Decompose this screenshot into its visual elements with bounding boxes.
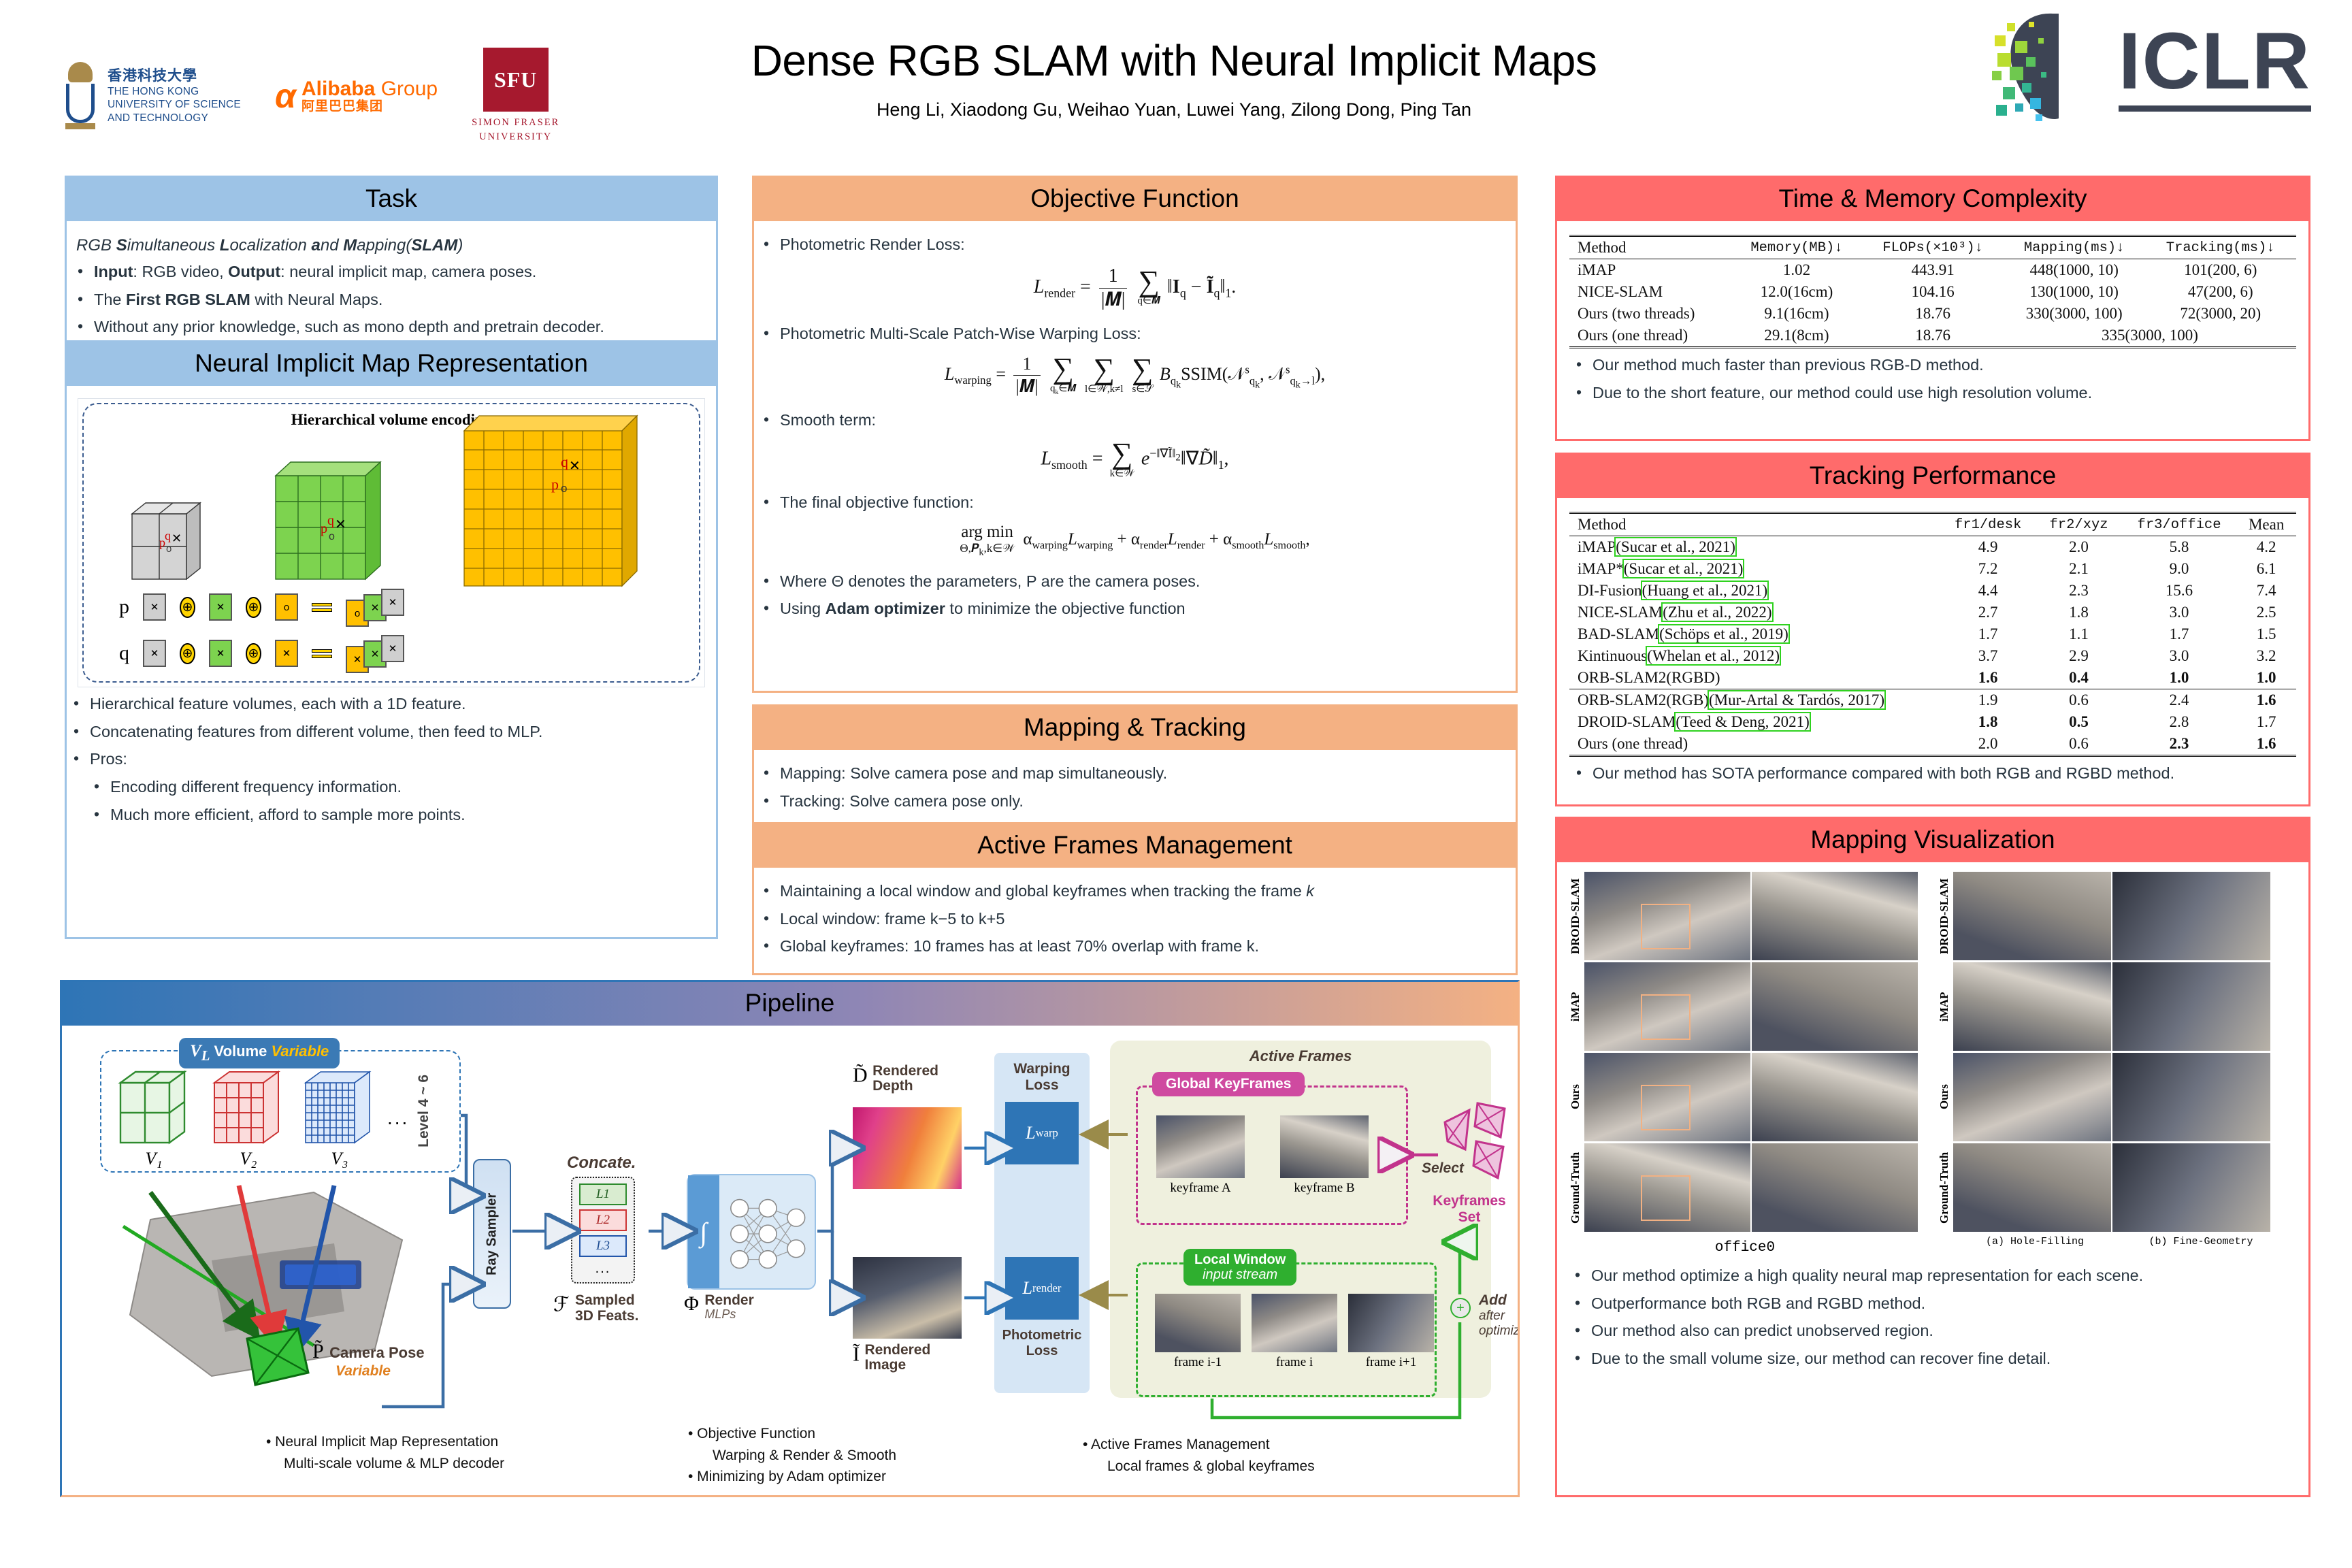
- list-item: Due to the small volume size, our method…: [1568, 1348, 2298, 1370]
- mapping-vis-row-label: DROID-SLAM: [1568, 872, 1583, 960]
- citation: (Whelan et al., 2012): [1647, 647, 1780, 664]
- cell: 130(1000, 10): [2004, 281, 2145, 303]
- cell: Ours (one thread): [1569, 733, 1940, 756]
- mapping-vis-row: Ours: [1937, 1053, 2284, 1141]
- representation-bullets: Hierarchical feature volumes, each with …: [67, 693, 716, 826]
- mapping-visualization-panel: Mapping Visualization DROID-SLAMiMAPOurs…: [1555, 817, 2310, 1497]
- complexity-heading: Time & Memory Complexity: [1557, 178, 2308, 221]
- cell: 7.2: [1940, 558, 2036, 580]
- author-list: Heng Li, Xiaodong Gu, Weihao Yuan, Luwei…: [612, 99, 1735, 120]
- iclr-brain-icon: [1988, 8, 2104, 124]
- col-header: fr2/xyz: [2036, 513, 2121, 536]
- list-item: Concatenating features from different vo…: [67, 721, 716, 743]
- list-item: Pros:: [67, 749, 716, 770]
- alibaba-name-cn: 阿里巴巴集团: [301, 100, 438, 114]
- cell: NICE-SLAM: [1569, 281, 1731, 303]
- col-header: Mean: [2236, 513, 2296, 536]
- cell: Kintinuous(Whelan et al., 2012): [1569, 645, 1940, 667]
- table-row: iMAP 1.02 443.91 448(1000, 10) 101(200, …: [1569, 259, 2296, 282]
- task-heading: Task: [67, 178, 716, 221]
- cell: 5.8: [2122, 536, 2237, 559]
- mapping-vis-row-label: Ours: [1937, 1053, 1952, 1141]
- col-header: Memory(MB)↓: [1731, 236, 1863, 259]
- equals-icon: [312, 647, 332, 660]
- mapping-visualization-heading: Mapping Visualization: [1557, 819, 2308, 862]
- plus-icon: ⊕: [246, 643, 261, 664]
- citation: (Huang et al., 2021): [1642, 582, 1768, 599]
- mapping-visualization-bullets: Our method optimize a high quality neura…: [1568, 1265, 2298, 1370]
- hkust-name-en: THE HONG KONGUNIVERSITY OF SCIENCEAND TE…: [108, 85, 241, 125]
- list-item: Global keyframes: 10 frames has at least…: [757, 936, 1513, 958]
- alibaba-logo: α Alibaba Group 阿里巴巴集团: [275, 78, 438, 113]
- cell: 2.0: [2036, 536, 2121, 559]
- col-header: FLOPs(×10³)↓: [1862, 236, 2004, 259]
- complexity-panel: Time & Memory Complexity Method Memory(M…: [1555, 176, 2310, 441]
- alibaba-mark-icon: α: [275, 79, 296, 113]
- mapping-vis-row: DROID-SLAM: [1937, 872, 2284, 960]
- tracking-performance-heading: Tracking Performance: [1557, 455, 2308, 498]
- row-label-p: p: [119, 595, 129, 619]
- svg-text:q: q: [561, 453, 568, 470]
- mapping-vis-cell: [1752, 872, 1918, 960]
- pipeline-footer-right: • Active Frames Management Local frames …: [1083, 1434, 1315, 1477]
- feature-cube-green: ✕: [209, 593, 232, 621]
- footer-mid-line1: • Objective Function: [688, 1423, 896, 1445]
- list-item: Without any prior knowledge, such as mon…: [71, 316, 712, 338]
- highlight-box: [1641, 1085, 1690, 1131]
- list-item: Due to the short feature, our method cou…: [1569, 382, 2296, 404]
- citation: (Sucar et al., 2021): [1624, 560, 1744, 577]
- mapping-tracking-bullets: Mapping: Solve camera pose and map simul…: [757, 763, 1513, 812]
- cell: 1.7: [2236, 711, 2296, 733]
- cell: 2.9: [2036, 645, 2121, 667]
- cell: 1.7: [1940, 623, 2036, 645]
- highlight-box: [1641, 1175, 1690, 1222]
- cell: 3.0: [2122, 602, 2237, 623]
- sub-caption-a: (a) Hole-Filling: [1952, 1236, 2118, 1247]
- cell: NICE-SLAM(Zhu et al., 2022): [1569, 602, 1940, 623]
- pipeline-footer-left: • Neural Implicit Map Representation Mul…: [266, 1431, 504, 1474]
- mapping-vis-cell: [2112, 872, 2270, 960]
- plus-icon: ⊕: [180, 643, 195, 664]
- cell: 443.91: [1862, 259, 2004, 282]
- feature-cube-grey: ✕: [143, 640, 166, 667]
- cell: 3.7: [1940, 645, 2036, 667]
- list-item: Photometric Render Loss:: [757, 234, 1513, 256]
- active-frames-heading: Active Frames Management: [754, 824, 1516, 868]
- mapping-vis-row-label: iMAP: [1568, 962, 1583, 1051]
- svg-text:o: o: [166, 543, 171, 555]
- mapping-vis-cell: [1584, 1143, 1750, 1232]
- iclr-underline: [2119, 105, 2311, 112]
- table-row: DI-Fusion(Huang et al., 2021)4.42.315.67…: [1569, 580, 2296, 602]
- iclr-logo: ICLR: [1988, 8, 2311, 124]
- list-item: Maintaining a local window and global ke…: [757, 881, 1513, 902]
- pipeline-heading: Pipeline: [62, 982, 1518, 1026]
- active-frames-bullets: Maintaining a local window and global ke…: [757, 881, 1513, 958]
- volume-cube-level1: p q ✕ o: [127, 497, 201, 579]
- cell: iMAP: [1569, 259, 1731, 282]
- mapping-vis-cell: [1752, 962, 1918, 1051]
- footer-mid-line2: Warping & Render & Smooth: [713, 1445, 896, 1467]
- cell: iMAP*(Sucar et al., 2021): [1569, 558, 1940, 580]
- plus-icon: ⊕: [180, 597, 195, 618]
- representation-heading: Neural Implicit Map Representation: [67, 342, 716, 386]
- formula-warping-loss: Lwarping = 1|𝑴| ∑qk∈𝑴 ∑l∈𝒲,k≠l ∑s∈𝒮 BqkS…: [757, 354, 1513, 397]
- table-row: ORB-SLAM2(RGBD)1.60.41.01.0: [1569, 667, 2296, 689]
- list-item: Much more efficient, afford to sample mo…: [67, 804, 716, 826]
- cell: 2.1: [2036, 558, 2121, 580]
- mapping-vis-row: iMAP: [1937, 962, 2284, 1051]
- cell: 2.4: [2122, 689, 2237, 712]
- sfu-name: SIMON FRASERUNIVERSITY: [472, 116, 559, 144]
- sfu-abbr: SFU: [483, 48, 549, 112]
- table-row: Ours (one thread)2.00.62.31.6: [1569, 733, 2296, 756]
- feature-concat-row-q: q ✕ ⊕ ✕ ⊕ ✕ ✕ ✕ ✕: [119, 635, 691, 672]
- mapping-vis-row-label: Ground-Truth: [1937, 1143, 1952, 1232]
- hkust-torch-icon: [61, 62, 99, 130]
- cell: 1.8: [2036, 602, 2121, 623]
- poster-header: 香港科技大學 THE HONG KONGUNIVERSITY OF SCIENC…: [0, 0, 2352, 163]
- citation: (Sucar et al., 2021): [1616, 538, 1735, 555]
- mapping-vis-row-label: DROID-SLAM: [1937, 872, 1952, 960]
- list-item: Hierarchical feature volumes, each with …: [67, 693, 716, 715]
- feature-concat-row-p: p ✕ ⊕ ✕ ⊕ o o ✕ ✕: [119, 589, 691, 625]
- mapping-vis-cell: [2112, 1053, 2270, 1141]
- cell: Ours (one thread): [1569, 325, 1731, 348]
- active-frames-panel: Active Frames Management Maintaining a l…: [752, 822, 1518, 975]
- title-block: Dense RGB SLAM with Neural Implicit Maps…: [612, 35, 1735, 120]
- cell: 2.8: [2122, 711, 2237, 733]
- svg-text:✕: ✕: [171, 532, 182, 545]
- formula-render-loss: Lrender = 1|𝑴| ∑q∈𝑴 ‖Iq − Ĩq‖1.: [757, 265, 1513, 311]
- list-item: Photometric Multi-Scale Patch-Wise Warpi…: [757, 323, 1513, 345]
- cell: 1.6: [2236, 689, 2296, 712]
- cell: 1.7: [2122, 623, 2237, 645]
- cell: iMAP(Sucar et al., 2021): [1569, 536, 1940, 559]
- citation: (Mur-Artal & Tardós, 2017): [1709, 691, 1884, 708]
- col-header: Method: [1569, 236, 1731, 259]
- svg-text:o: o: [561, 482, 567, 495]
- table-row: NICE-SLAM 12.0(16cm) 104.16 130(1000, 10…: [1569, 281, 2296, 303]
- mapping-vis-row-label: Ours: [1568, 1053, 1583, 1141]
- footer-right-line1: • Active Frames Management: [1083, 1434, 1315, 1456]
- poster-root: 香港科技大學 THE HONG KONGUNIVERSITY OF SCIENC…: [0, 0, 2352, 1568]
- cell: 6.1: [2236, 558, 2296, 580]
- formula-smooth-loss: Lsmooth = ∑k∈𝒲 e−‖∇Ĩ‖2‖∇D̃‖1,: [757, 441, 1513, 479]
- footer-mid-line3: • Minimizing by Adam optimizer: [688, 1466, 896, 1488]
- col-header: Method: [1569, 513, 1940, 536]
- table-row: ORB-SLAM2(RGB)(Mur-Artal & Tardós, 2017)…: [1569, 689, 2296, 712]
- cell: 2.3: [2036, 580, 2121, 602]
- cell: ORB-SLAM2(RGBD): [1569, 667, 1940, 689]
- mapping-vis-row: iMAP: [1568, 962, 1922, 1051]
- pipeline-footer-mid: • Objective Function Warping & Render & …: [688, 1423, 896, 1488]
- cell: 330(3000, 100): [2004, 303, 2145, 325]
- cell: 335(3000, 100): [2004, 325, 2296, 348]
- cell: 0.4: [2036, 667, 2121, 689]
- cell: ORB-SLAM2(RGB)(Mur-Artal & Tardós, 2017): [1569, 689, 1940, 712]
- citation: (Schöps et al., 2019): [1659, 625, 1788, 642]
- highlight-box: [1641, 904, 1690, 950]
- cell: 29.1(8cm): [1731, 325, 1863, 348]
- table-row: DROID-SLAM(Teed & Deng, 2021)1.80.52.81.…: [1569, 711, 2296, 733]
- mapping-vis-cell: [2112, 1143, 2270, 1232]
- mapping-vis-cell: [1752, 1143, 1918, 1232]
- hkust-name-cn: 香港科技大學: [108, 67, 241, 85]
- mapping-vis-cell: [1953, 962, 2111, 1051]
- cell: 1.6: [2236, 733, 2296, 756]
- mapping-vis-row: DROID-SLAM: [1568, 872, 1922, 960]
- feature-cube-stack-grey: ✕: [381, 589, 404, 616]
- representation-panel: Neural Implicit Map Representation Hiera…: [65, 340, 718, 939]
- hierarchical-cubes: p q ✕ o: [92, 433, 691, 579]
- task-lead: RGB Simultaneous Localization and Mappin…: [76, 236, 712, 255]
- mapping-tracking-panel: Mapping & Tracking Mapping: Solve camera…: [752, 704, 1518, 830]
- cell: 2.0: [1940, 733, 2036, 756]
- cell: 448(1000, 10): [2004, 259, 2145, 282]
- cell: 4.4: [1940, 580, 2036, 602]
- mapping-vis-cell: [1584, 872, 1750, 960]
- cell: 18.76: [1862, 303, 2004, 325]
- table-row: Ours (one thread) 29.1(8cm) 18.76 335(30…: [1569, 325, 2296, 348]
- cell: 1.0: [2122, 667, 2237, 689]
- cell: DI-Fusion(Huang et al., 2021): [1569, 580, 1940, 602]
- iclr-wordmark: ICLR: [2119, 21, 2311, 101]
- cell: 1.6: [1940, 667, 2036, 689]
- mapping-vis-cell: [1752, 1053, 1918, 1141]
- col-header: Mapping(ms)↓: [2004, 236, 2145, 259]
- complexity-bullets: Our method much faster than previous RGB…: [1569, 355, 2296, 404]
- tracking-performance-bullets: Our method has SOTA performance compared…: [1569, 763, 2296, 785]
- page-title: Dense RGB SLAM with Neural Implicit Maps: [612, 35, 1735, 86]
- mapping-vis-row-label: iMAP: [1937, 962, 1952, 1051]
- list-item: Input: RGB video, Output: neural implici…: [71, 261, 712, 283]
- feature-cube-yellow: ✕: [275, 640, 298, 667]
- mapping-vis-row: Ours: [1568, 1053, 1922, 1141]
- list-item: Our method optimize a high quality neura…: [1568, 1265, 2298, 1287]
- table-row: iMAP(Sucar et al., 2021)4.92.05.84.2: [1569, 536, 2296, 559]
- tracking-performance-table: Method fr1/desk fr2/xyz fr3/office Mean …: [1569, 512, 2296, 757]
- cell: 15.6: [2122, 580, 2237, 602]
- row-label-q: q: [119, 642, 129, 665]
- footer-left-line1: • Neural Implicit Map Representation: [266, 1431, 504, 1453]
- equals-icon: [312, 601, 332, 614]
- mapping-vis-row: Ground-Truth: [1568, 1143, 1922, 1232]
- cell: 1.5: [2236, 623, 2296, 645]
- svg-text:p: p: [551, 476, 559, 493]
- list-item: Our method much faster than previous RGB…: [1569, 355, 2296, 376]
- cell: 2.7: [1940, 602, 2036, 623]
- alibaba-group: Group: [381, 78, 438, 100]
- list-item: Tracking: Solve camera pose only.: [757, 791, 1513, 813]
- footer-left-line2: Multi-scale volume & MLP decoder: [284, 1453, 504, 1475]
- mapping-tracking-heading: Mapping & Tracking: [754, 706, 1516, 750]
- list-item: Where Θ denotes the parameters, P are th…: [757, 571, 1513, 593]
- feature-cube-grey: ✕: [143, 593, 166, 621]
- list-item: Smooth term:: [757, 410, 1513, 431]
- mapping-vis-row: Ground-Truth: [1937, 1143, 2284, 1232]
- hkust-logo: 香港科技大學 THE HONG KONGUNIVERSITY OF SCIENC…: [61, 62, 241, 130]
- cell: 9.0: [2122, 558, 2237, 580]
- highlight-box: [1641, 994, 1690, 1041]
- svg-text:p: p: [321, 521, 327, 536]
- cell: 7.4: [2236, 580, 2296, 602]
- objective-panel: Objective Function Photometric Render Lo…: [752, 176, 1518, 693]
- cell: 0.6: [2036, 689, 2121, 712]
- table-row: Kintinuous(Whelan et al., 2012)3.72.93.0…: [1569, 645, 2296, 667]
- svg-text:✕: ✕: [569, 459, 581, 474]
- col-header: fr3/office: [2122, 513, 2237, 536]
- cell: 9.1(16cm): [1731, 303, 1863, 325]
- cell: 4.2: [2236, 536, 2296, 559]
- scene-caption: office0: [1568, 1240, 1922, 1256]
- mapping-vis-cell: [1953, 1143, 2111, 1232]
- mapping-vis-row-label: Ground-Truth: [1568, 1143, 1583, 1232]
- cell: 1.8: [1940, 711, 2036, 733]
- cell: 1.1: [2036, 623, 2121, 645]
- cell: 0.5: [2036, 711, 2121, 733]
- pipeline-panel: Pipeline VL Volume Variable: [60, 980, 1520, 1497]
- cell: 101(200, 6): [2144, 259, 2296, 282]
- feature-cube-stack-grey: ✕: [381, 635, 404, 662]
- tracking-performance-panel: Tracking Performance Method fr1/desk fr2…: [1555, 453, 2310, 806]
- cell: BAD-SLAM(Schöps et al., 2019): [1569, 623, 1940, 645]
- list-item: Mapping: Solve camera pose and map simul…: [757, 763, 1513, 785]
- mapping-vis-cell: [1584, 1053, 1750, 1141]
- svg-text:✕: ✕: [335, 517, 346, 532]
- svg-text:o: o: [329, 531, 335, 542]
- volume-encoding-figure: Hierarchical volume encoding: [78, 398, 705, 687]
- volume-cube-level2: p q ✕ o: [270, 457, 389, 579]
- sub-caption-b: (b) Fine-Geometry: [2118, 1236, 2284, 1247]
- mapping-vis-cell: [1584, 962, 1750, 1051]
- citation: (Teed & Deng, 2021): [1676, 713, 1809, 730]
- cell: 18.76: [1862, 325, 2004, 348]
- alibaba-name: Alibaba: [301, 78, 375, 100]
- volume-cube-level3: q ✕ p o: [459, 409, 656, 579]
- table-row: NICE-SLAM(Zhu et al., 2022)2.71.83.02.5: [1569, 602, 2296, 623]
- cell: 2.3: [2122, 733, 2237, 756]
- list-item: Our method has SOTA performance compared…: [1569, 763, 2296, 785]
- citation: (Zhu et al., 2022): [1663, 604, 1771, 621]
- cell: 104.16: [1862, 281, 2004, 303]
- cell: 47(200, 6): [2144, 281, 2296, 303]
- cell: 1.9: [1940, 689, 2036, 712]
- list-item: The final objective function:: [757, 492, 1513, 514]
- list-item: Using Adam optimizer to minimize the obj…: [757, 598, 1513, 620]
- logo-row: 香港科技大學 THE HONG KONGUNIVERSITY OF SCIENC…: [61, 48, 559, 144]
- task-panel: Task RGB Simultaneous Localization and M…: [65, 176, 718, 357]
- table-row: iMAP*(Sucar et al., 2021)7.22.19.06.1: [1569, 558, 2296, 580]
- cell: 2.5: [2236, 602, 2296, 623]
- cell: 1.0: [2236, 667, 2296, 689]
- plus-icon: ⊕: [246, 597, 261, 618]
- col-header: Tracking(ms)↓: [2144, 236, 2296, 259]
- table-row: BAD-SLAM(Schöps et al., 2019)1.71.11.71.…: [1569, 623, 2296, 645]
- cell: DROID-SLAM(Teed & Deng, 2021): [1569, 711, 1940, 733]
- sfu-logo: SFU SIMON FRASERUNIVERSITY: [472, 48, 559, 144]
- cell: 72(3000, 20): [2144, 303, 2296, 325]
- cell: 4.9: [1940, 536, 2036, 559]
- svg-text:q: q: [327, 513, 334, 528]
- cell: 1.02: [1731, 259, 1863, 282]
- col-header: fr1/desk: [1940, 513, 2036, 536]
- list-item: The First RGB SLAM with Neural Maps.: [71, 289, 712, 311]
- footer-right-line2: Local frames & global keyframes: [1107, 1456, 1315, 1477]
- svg-text:q: q: [165, 529, 171, 542]
- list-item: Outperformance both RGB and RGBD method.: [1568, 1293, 2298, 1315]
- list-item: Our method also can predict unobserved r…: [1568, 1320, 2298, 1342]
- feature-cube-green: ✕: [209, 640, 232, 667]
- objective-heading: Objective Function: [754, 178, 1516, 221]
- feature-cube-yellow: o: [275, 593, 298, 621]
- cell: 12.0(16cm): [1731, 281, 1863, 303]
- cell: 0.6: [2036, 733, 2121, 756]
- complexity-table: Method Memory(MB)↓ FLOPs(×10³)↓ Mapping(…: [1569, 235, 2296, 348]
- mapping-vis-cell: [1953, 872, 2111, 960]
- table-row: Ours (two threads) 9.1(16cm) 18.76 330(3…: [1569, 303, 2296, 325]
- task-bullets: Input: RGB video, Output: neural implici…: [71, 261, 712, 338]
- list-item: Local window: frame k−5 to k+5: [757, 909, 1513, 930]
- cell: 3.2: [2236, 645, 2296, 667]
- cell: Ours (two threads): [1569, 303, 1731, 325]
- cell: 3.0: [2122, 645, 2237, 667]
- mapping-vis-cell: [1953, 1053, 2111, 1141]
- mapping-vis-cell: [2112, 962, 2270, 1051]
- formula-final-objective: arg min Θ,𝑷k,k∈𝒲 αwarpingLwarping + αren…: [757, 523, 1513, 558]
- list-item: Encoding different frequency information…: [67, 777, 716, 798]
